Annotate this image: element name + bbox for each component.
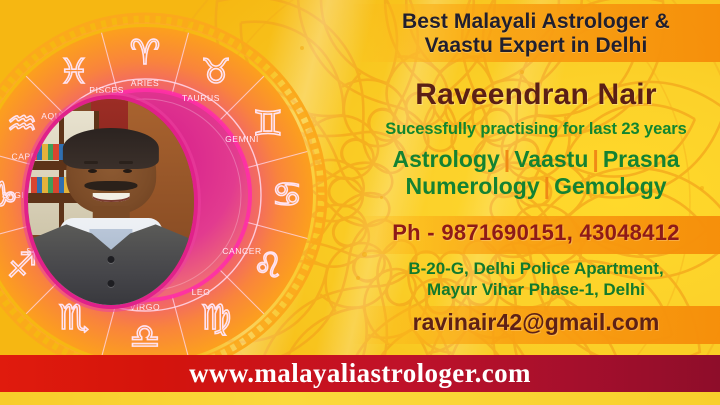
business-card: ♈ ♉ ♊ ♋ ♌ ♍ ♎ ♏ ♐ ♑ ♒ ♓ ARIES TAURUS GEM… [0, 0, 720, 405]
zodiac-label-leo: LEO [192, 287, 211, 297]
service-separator-icon: | [500, 146, 514, 172]
tagline: Sucessfully practising for last 23 years [352, 120, 720, 139]
portrait-photo [28, 99, 194, 305]
zodiac-label-cancer: CANCER [222, 246, 262, 256]
zodiac-glyph-cancer: ♋ [272, 175, 302, 215]
zodiac-glyph-taurus: ♉ [201, 52, 231, 92]
photo-eye [88, 169, 97, 173]
services-line-1: Astrology|Vaastu|Prasna [352, 146, 720, 173]
zodiac-glyph-aries: ♈ [130, 33, 160, 73]
photo-vest-button [108, 280, 115, 287]
address-line-2: Mayur Vihar Phase-1, Delhi [352, 279, 720, 300]
headline: Best Malayali Astrologer & Vaastu Expert… [352, 10, 720, 57]
service-astrology: Astrology [392, 146, 499, 172]
service-gemology: Gemology [554, 173, 666, 199]
speck [362, 252, 367, 257]
phone-number[interactable]: Ph - 9871690151, 43048412 [352, 220, 720, 246]
photo-mustache [84, 181, 137, 191]
zodiac-label-pisces: PISCES [89, 85, 124, 95]
photo-hair [63, 128, 159, 169]
service-separator-icon: | [588, 146, 602, 172]
speck [520, 70, 524, 74]
service-prasna: Prasna [603, 146, 680, 172]
zodiac-glyph-libra: ♎ [130, 317, 160, 357]
email-address[interactable]: ravinair42@gmail.com [352, 309, 720, 336]
service-numerology: Numerology [405, 173, 539, 199]
zodiac-glyph-virgo: ♍ [201, 298, 231, 338]
service-vaastu: Vaastu [514, 146, 588, 172]
astrologer-name: Raveendran Nair [352, 78, 720, 112]
services-list: Astrology|Vaastu|Prasna Numerology|Gemol… [352, 146, 720, 200]
zodiac-glyph-pisces: ♓ [59, 52, 89, 92]
photo-mouth [93, 193, 130, 202]
zodiac-label-gemini: GEMINI [225, 134, 259, 144]
service-separator-icon: | [540, 173, 554, 199]
services-line-2: Numerology|Gemology [352, 173, 720, 200]
footer-bottom-strip [0, 392, 720, 405]
headline-line-1: Best Malayali Astrologer & [352, 10, 720, 34]
website-footer-bar[interactable]: www.malayaliastrologer.com [0, 355, 720, 392]
photo-brow [84, 161, 98, 164]
photo-eye [123, 169, 132, 173]
headline-line-2: Vaastu Expert in Delhi [352, 34, 720, 58]
website-url[interactable]: www.malayaliastrologer.com [189, 358, 531, 389]
photo-brow [119, 161, 133, 164]
zodiac-label-aries: ARIES [131, 78, 160, 88]
address-line-1: B-20-G, Delhi Police Apartment, [352, 258, 720, 279]
photo-vest-button [108, 256, 115, 263]
address: B-20-G, Delhi Police Apartment, Mayur Vi… [352, 258, 720, 301]
